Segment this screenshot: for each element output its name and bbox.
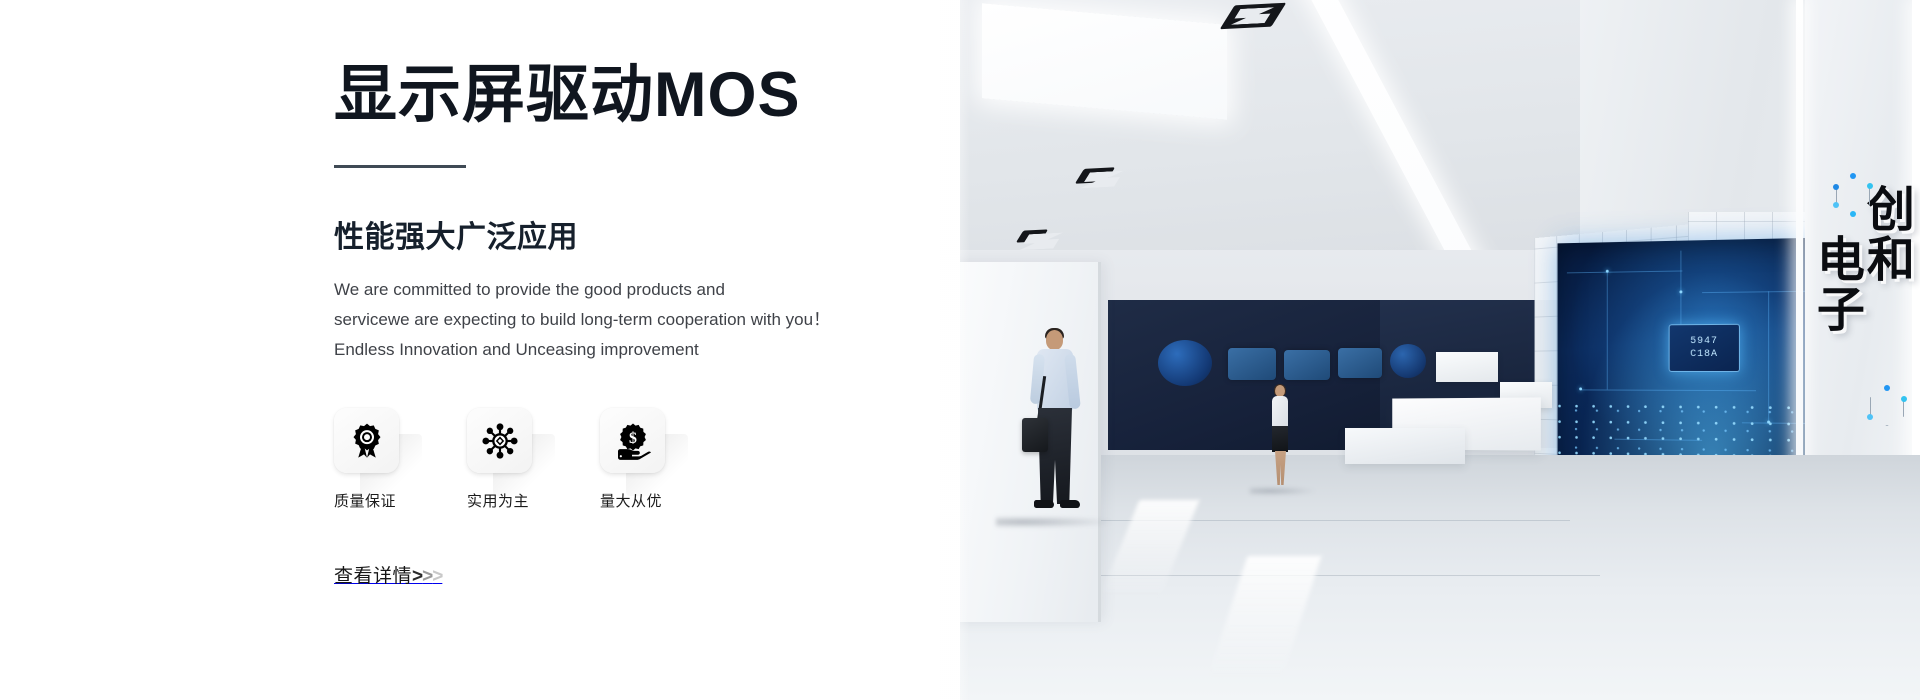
businessman-shoe-right: [1060, 500, 1080, 508]
feature-item-bulk-discount[interactable]: $ 量大从优: [600, 408, 675, 511]
navy-display-card-3: [1338, 348, 1382, 378]
svg-text:$: $: [629, 430, 637, 447]
feature-label-bulk-discount: 量大从优: [600, 490, 675, 511]
view-details-arrows: >>>: [412, 566, 442, 588]
businessman-figure: [1020, 330, 1090, 520]
navy-globe-graphic-2: [1390, 344, 1426, 378]
panel-seam: [940, 0, 970, 700]
title-divider: [334, 165, 466, 168]
text-panel: 显示屏驱动MOS 性能强大广泛应用 We are committed to pr…: [0, 0, 960, 700]
woman-top: [1272, 396, 1288, 428]
white-column-edge: [1098, 262, 1101, 622]
hand-money-icon: $: [613, 421, 653, 461]
description-line-2: servicewe are expecting to build long-te…: [334, 305, 914, 335]
text-content: 显示屏驱动MOS 性能强大广泛应用 We are committed to pr…: [334, 58, 914, 588]
feature-badge-quality: [334, 408, 399, 473]
chevron-right-icon-3: >: [432, 566, 442, 587]
feature-badge-bulk-discount: $: [600, 408, 665, 473]
company-sign-column-left: 电子: [1810, 234, 1860, 334]
page-subtitle: 性能强大广泛应用: [334, 212, 914, 256]
award-ribbon-icon: [347, 421, 387, 461]
feature-label-practical: 实用为主: [467, 490, 542, 511]
network-hub-icon: [480, 421, 520, 461]
businessman-shoe-left: [1034, 500, 1054, 508]
woman-figure: [1263, 385, 1297, 490]
businessman-head: [1046, 330, 1063, 350]
feature-item-practical[interactable]: 实用为主: [467, 408, 542, 511]
description-paragraph: We are committed to provide the good pro…: [334, 275, 914, 365]
businessman-briefcase: [1022, 418, 1048, 452]
description-line-1: We are committed to provide the good pro…: [334, 275, 914, 305]
navy-display-card-2: [1284, 350, 1330, 380]
woman-legs: [1275, 451, 1286, 485]
feature-item-quality[interactable]: 质量保证: [334, 408, 409, 511]
floor: [960, 455, 1920, 700]
reception-desk-secondary: [1345, 428, 1465, 464]
view-details-link[interactable]: 查看详情 >>>: [334, 561, 442, 588]
view-details-label: 查看详情: [334, 561, 412, 588]
woman-skirt: [1272, 426, 1288, 452]
chevron-right-icon-2: >: [422, 566, 432, 587]
chip-line-2: C18A: [1690, 348, 1718, 361]
chip-graphic: 5947 C18A: [1669, 324, 1740, 372]
feature-list: 质量保证: [334, 408, 914, 511]
chevron-right-icon-1: >: [412, 566, 422, 587]
navy-globe-graphic: [1158, 340, 1212, 386]
company-sign: 创和 电子: [1812, 192, 1920, 422]
navy-display-card-1: [1228, 348, 1276, 380]
description-line-3: Endless Innovation and Unceasing improve…: [334, 335, 914, 365]
feature-badge-practical: [467, 408, 532, 473]
hanging-light-box-1: [1436, 352, 1498, 382]
feature-label-quality: 质量保证: [334, 490, 409, 511]
hero-banner: 5947 C18A 创和 电子: [0, 0, 1920, 700]
chip-line-1: 5947: [1690, 335, 1718, 348]
showroom-photo: 5947 C18A 创和 电子: [960, 0, 1920, 700]
page-title: 显示屏驱动MOS: [334, 58, 914, 132]
